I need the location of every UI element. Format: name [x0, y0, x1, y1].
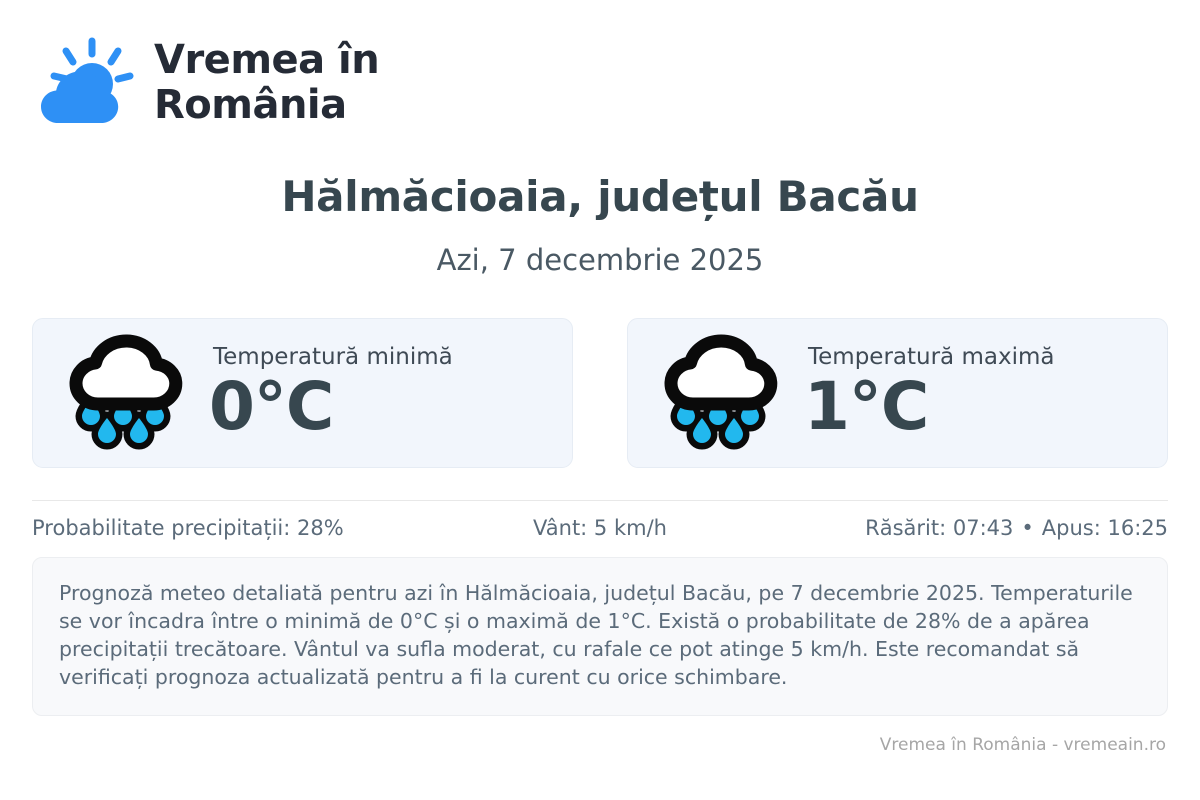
precipitation-stat: Probabilitate precipitații: 28% — [32, 514, 411, 542]
min-temperature-card: Temperatură minimă 0°C — [32, 318, 573, 468]
page-title: Hălmăcioaia, județul Bacău — [32, 172, 1168, 222]
temperature-cards: Temperatură minimă 0°C — [32, 318, 1168, 468]
site-logo[interactable]: Vremea în România — [32, 0, 1168, 118]
rain-cloud-icon — [65, 334, 187, 452]
weather-page: Vremea în România Hălmăcioaia, județul B… — [0, 0, 1200, 800]
min-temperature-value: 0°C — [209, 370, 453, 444]
page-date-subtitle: Azi, 7 decembrie 2025 — [32, 242, 1168, 278]
footer-credit: Vremea în România - vremeain.ro — [32, 734, 1168, 756]
max-temperature-body: Temperatură maximă 1°C — [804, 342, 1054, 444]
sunset-value: Apus: 16:25 — [1042, 516, 1168, 540]
rain-cloud-icon — [660, 334, 782, 452]
site-logo-text: Vremea în România — [154, 38, 379, 128]
stats-row: Probabilitate precipitații: 28% Vânt: 5 … — [32, 501, 1168, 549]
sun-behind-cloud-icon — [32, 37, 136, 129]
sunrise-value: Răsărit: 07:43 — [865, 516, 1013, 540]
min-temperature-body: Temperatură minimă 0°C — [209, 342, 453, 444]
forecast-description: Prognoză meteo detaliată pentru azi în H… — [32, 557, 1168, 716]
sun-times-separator: • — [1013, 516, 1041, 540]
sun-times-stat: Răsărit: 07:43•Apus: 16:25 — [789, 514, 1168, 542]
wind-stat: Vânt: 5 km/h — [411, 514, 790, 542]
max-temperature-value: 1°C — [804, 370, 1054, 444]
max-temperature-card: Temperatură maximă 1°C — [627, 318, 1168, 468]
